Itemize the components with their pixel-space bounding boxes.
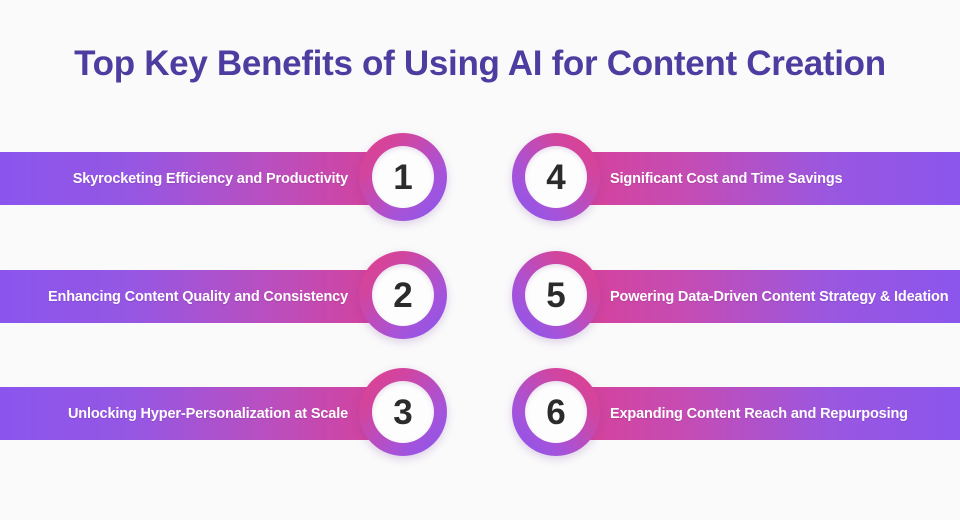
benefit-row-6: Expanding Content Reach and Repurposing … (512, 364, 960, 460)
benefit-badge-disc-5: 5 (525, 264, 587, 326)
benefit-row-3: Unlocking Hyper-Personalization at Scale… (0, 364, 460, 460)
benefit-label-2: Enhancing Content Quality and Consistenc… (48, 289, 348, 305)
benefit-badge-3: 3 (359, 368, 447, 456)
benefit-number-6: 6 (546, 395, 565, 430)
benefit-label-6: Expanding Content Reach and Repurposing (610, 406, 908, 422)
benefit-number-5: 5 (546, 278, 565, 313)
benefit-badge-6: 6 (512, 368, 600, 456)
benefit-badge-disc-2: 2 (372, 264, 434, 326)
benefit-label-5: Powering Data-Driven Content Strategy & … (610, 289, 948, 305)
infographic-canvas: Top Key Benefits of Using AI for Content… (0, 0, 960, 520)
benefit-bar-4: Significant Cost and Time Savings (552, 152, 960, 205)
benefit-badge-4: 4 (512, 133, 600, 221)
benefit-label-3: Unlocking Hyper-Personalization at Scale (68, 406, 348, 422)
benefit-badge-1: 1 (359, 133, 447, 221)
benefit-badge-disc-1: 1 (372, 146, 434, 208)
benefit-number-3: 3 (393, 395, 412, 430)
benefit-number-1: 1 (393, 160, 412, 195)
benefit-row-4: Significant Cost and Time Savings 4 (512, 129, 960, 225)
benefit-row-1: Skyrocketing Efficiency and Productivity… (0, 129, 460, 225)
benefit-badge-disc-3: 3 (372, 381, 434, 443)
benefit-number-2: 2 (393, 278, 412, 313)
benefit-badge-5: 5 (512, 251, 600, 339)
benefit-bar-3: Unlocking Hyper-Personalization at Scale (0, 387, 406, 440)
benefit-badge-2: 2 (359, 251, 447, 339)
benefit-bar-6: Expanding Content Reach and Repurposing (552, 387, 960, 440)
benefit-badge-disc-6: 6 (525, 381, 587, 443)
page-title: Top Key Benefits of Using AI for Content… (0, 44, 960, 84)
benefit-bar-1: Skyrocketing Efficiency and Productivity (0, 152, 406, 205)
benefit-label-1: Skyrocketing Efficiency and Productivity (73, 171, 348, 187)
benefit-label-4: Significant Cost and Time Savings (610, 171, 842, 187)
benefit-badge-disc-4: 4 (525, 146, 587, 208)
benefit-bar-2: Enhancing Content Quality and Consistenc… (0, 270, 406, 323)
benefit-number-4: 4 (546, 160, 565, 195)
benefit-row-5: Powering Data-Driven Content Strategy & … (512, 247, 960, 343)
benefit-bar-5: Powering Data-Driven Content Strategy & … (552, 270, 960, 323)
benefit-row-2: Enhancing Content Quality and Consistenc… (0, 247, 460, 343)
